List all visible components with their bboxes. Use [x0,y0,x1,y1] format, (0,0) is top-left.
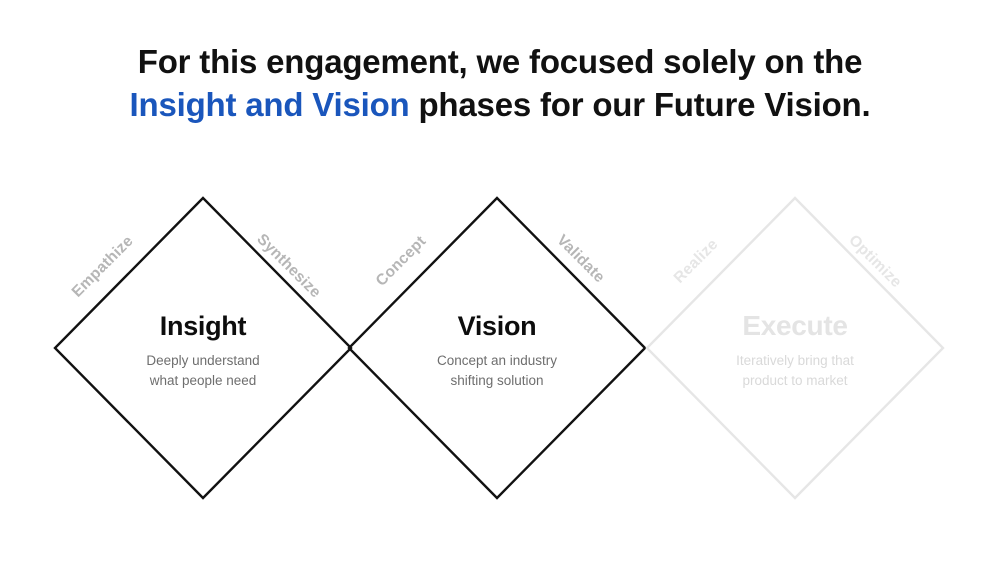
phase-desc-execute-line1: Iteratively bring that [736,353,854,368]
phase-text-execute: Execute Iteratively bring that product t… [675,311,915,391]
diamond-shape-execute [0,0,1000,563]
phase-title-execute: Execute [675,311,915,341]
double-diamond-diagram: Empathize Synthesize Insight Deeply unde… [0,0,1000,563]
phase-execute[interactable]: Realize Optimize Execute Iteratively bri… [0,0,1000,563]
phase-desc-execute: Iteratively bring that product to market [675,351,915,391]
phase-desc-execute-line2: product to market [742,373,847,388]
